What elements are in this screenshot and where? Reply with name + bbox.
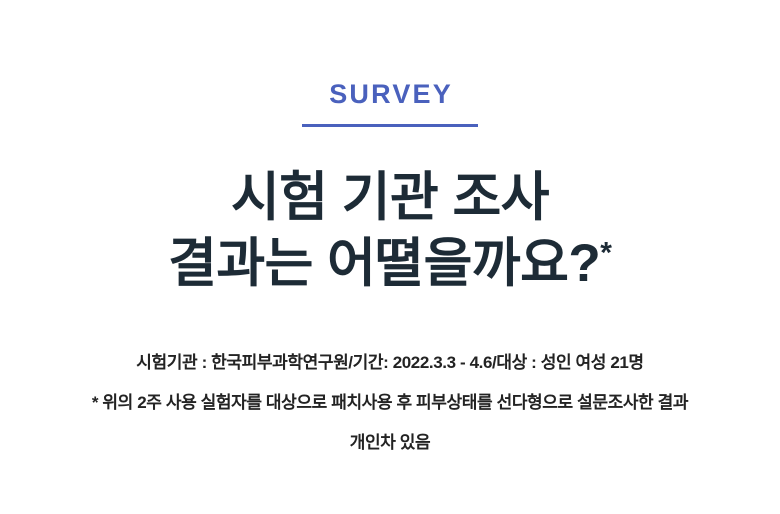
headline-line-2: 결과는 어뗠을까요? (168, 234, 600, 293)
caption-line-study-info: 시험기관 : 한국피부과학연구원/기간: 2022.3.3 - 4.6/대상 :… (92, 343, 688, 383)
headline-footnote-asterisk: * (600, 236, 612, 269)
caption-block: 시험기관 : 한국피부과학연구원/기간: 2022.3.3 - 4.6/대상 :… (92, 343, 688, 463)
headline-block: 시험 기관 조사 결과는 어뗠을까요?* (168, 165, 612, 297)
eyebrow-block: SURVEY (302, 78, 478, 127)
caption-line-disclaimer: 개인차 있음 (92, 423, 688, 463)
headline-line-1: 시험 기관 조사 (168, 165, 612, 231)
survey-eyebrow-label: SURVEY (327, 78, 453, 110)
caption-line-method-note: * 위의 2주 사용 실험자를 대상으로 패치사용 후 피부상태를 선다형으로 … (92, 383, 688, 423)
headline-line-2-wrapper: 결과는 어뗠을까요?* (168, 231, 612, 297)
survey-banner: SURVEY 시험 기관 조사 결과는 어뗠을까요?* 시험기관 : 한국피부과… (0, 0, 780, 514)
eyebrow-divider-rule (302, 124, 478, 127)
